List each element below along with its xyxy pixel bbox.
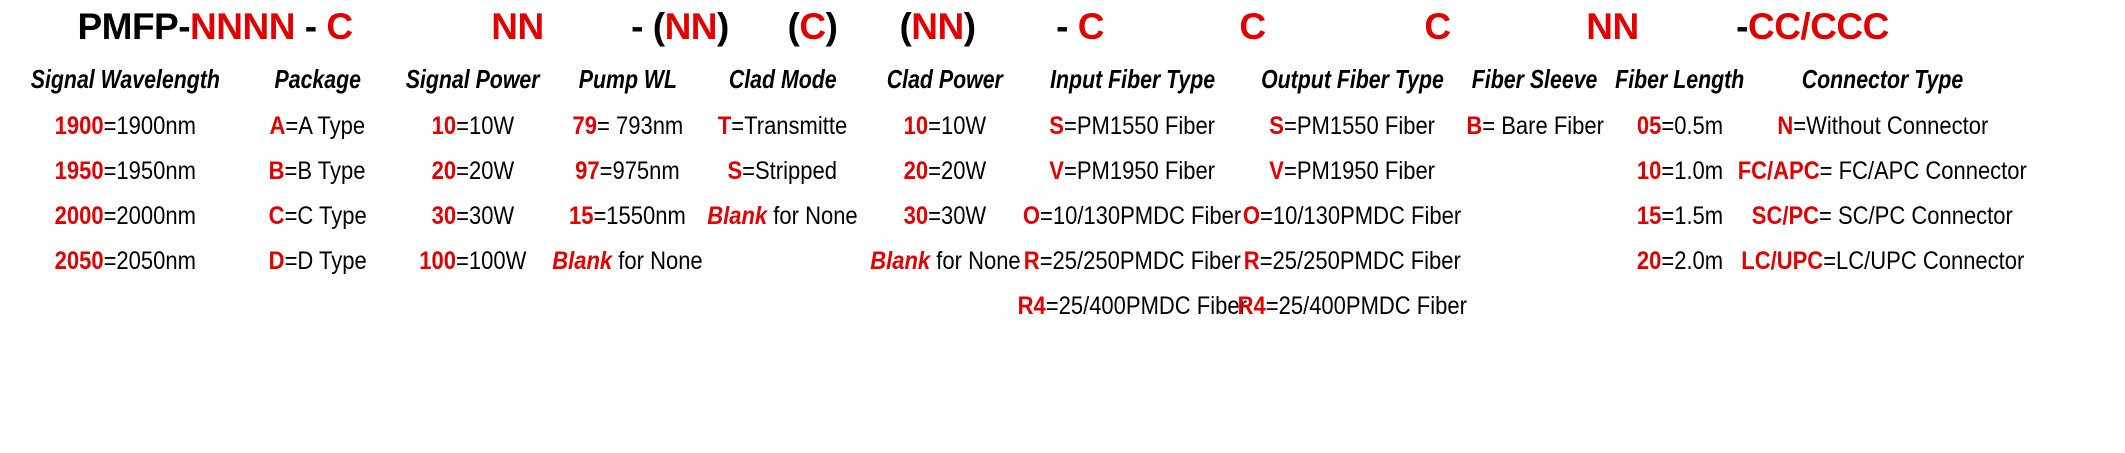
option-value: =Stripped: [742, 157, 837, 185]
option-code: 100: [419, 247, 456, 275]
option-code: S: [1050, 112, 1065, 140]
option-cell: Blank for None: [552, 239, 702, 284]
column-header: Signal Wavelength: [30, 54, 219, 104]
option-cell: R=25/250PMDC Fiber: [1244, 239, 1461, 284]
option-code: R4: [1018, 292, 1046, 320]
option-value: =1950nm: [103, 157, 195, 185]
option-cell: 15=1550nm: [569, 194, 686, 239]
column-header: Input Fiber Type: [1050, 54, 1215, 104]
option-cell: 100=100W: [419, 239, 526, 284]
option-code: 10: [1637, 157, 1661, 185]
option-cell: 2000=2000nm: [54, 194, 195, 239]
part-number-code-line: PMFP-NNNN - CNN - (NN)(C)(NN) - CCCNN-CC…: [0, 0, 2125, 54]
option-cell: O=10/130PMDC Fiber: [1243, 194, 1461, 239]
option-cell: 30=30W: [904, 194, 987, 239]
option-code: R4: [1238, 292, 1266, 320]
code-segment-2: - (NN): [605, 0, 755, 54]
option-value: =A Type: [286, 112, 366, 140]
code-token: -: [295, 6, 326, 47]
code-token: -: [1056, 6, 1078, 47]
option-value: =0.5m: [1661, 112, 1723, 140]
option-cell-empty: [1532, 149, 1538, 194]
option-cell-empty: [314, 284, 320, 329]
option-cell: T=Transmitte: [718, 104, 847, 149]
option-column: Input Fiber TypeS=PM1550 FiberV=PM1950 F…: [1020, 54, 1245, 329]
option-column: Signal Power10=10W20=20W30=30W100=100W: [385, 54, 560, 329]
option-value: =10/130PMDC Fiber: [1260, 202, 1461, 230]
option-value: =PM1550 Fiber: [1284, 112, 1435, 140]
option-code: 1900: [54, 112, 103, 140]
option-cell-empty: [624, 284, 630, 329]
option-cell: O=10/130PMDC Fiber: [1023, 194, 1241, 239]
option-cell-empty: [1532, 194, 1538, 239]
option-code: 79: [572, 112, 596, 140]
option-value: =1550nm: [594, 202, 686, 230]
column-header: Signal Power: [406, 54, 540, 104]
option-code: 15: [1637, 202, 1661, 230]
code-segment-8: NN: [1525, 0, 1700, 54]
option-value: =30W: [456, 202, 514, 230]
option-code: O: [1243, 202, 1260, 230]
option-value: for None: [930, 247, 1021, 275]
option-cell-empty: [1532, 284, 1538, 329]
option-code: 20: [431, 157, 455, 185]
option-value: =20W: [928, 157, 986, 185]
option-value: =B Type: [285, 157, 366, 185]
option-column: Output Fiber TypeS=PM1550 FiberV=PM1950 …: [1245, 54, 1460, 329]
option-value: =975nm: [600, 157, 680, 185]
option-value: =PM1950 Fiber: [1064, 157, 1215, 185]
option-code: 30: [431, 202, 455, 230]
option-column: Fiber SleeveB= Bare Fiber: [1460, 54, 1610, 329]
option-code: 30: [904, 202, 928, 230]
option-code: O: [1023, 202, 1040, 230]
column-header: Pump WL: [578, 54, 676, 104]
option-cell: V=PM1950 Fiber: [1270, 149, 1436, 194]
code-token: CC/CCC: [1748, 6, 1889, 47]
option-value: =10/130PMDC Fiber: [1040, 202, 1241, 230]
code-token: PMFP-: [77, 6, 190, 47]
options-grid: Signal Wavelength1900=1900nm1950=1950nm2…: [0, 54, 2125, 329]
option-cell-empty: [1879, 284, 1885, 329]
option-cell: 2050=2050nm: [54, 239, 195, 284]
option-code: 2000: [54, 202, 103, 230]
code-segment-0: PMFP-NNNN - C: [0, 0, 430, 54]
option-cell: 10=10W: [431, 104, 514, 149]
option-code: R: [1024, 247, 1040, 275]
option-column: Clad ModeT=TransmitteS=StrippedBlank for…: [695, 54, 870, 329]
option-value: =2000nm: [103, 202, 195, 230]
option-value: =10W: [928, 112, 986, 140]
option-cell: FC/APC= FC/APC Connector: [1738, 149, 2027, 194]
option-column: Pump WL79= 793nm97=975nm15=1550nmBlank f…: [560, 54, 695, 329]
option-value: =D Type: [284, 247, 366, 275]
option-cell: N=Without Connector: [1777, 104, 1988, 149]
option-value: =2050nm: [103, 247, 195, 275]
code-token: NN: [665, 6, 717, 47]
option-cell: 30=30W: [431, 194, 514, 239]
option-value: =C Type: [284, 202, 366, 230]
option-cell: 20=2.0m: [1637, 239, 1723, 284]
option-code: Blank: [707, 202, 767, 230]
code-segment-6: C: [1155, 0, 1350, 54]
option-cell: R4=25/400PMDC Fiber: [1018, 284, 1247, 329]
code-token: C: [799, 6, 825, 47]
option-cell-empty: [1532, 239, 1538, 284]
option-code: A: [270, 112, 286, 140]
option-cell: B= Bare Fiber: [1466, 104, 1604, 149]
option-cell: SC/PC= SC/PC Connector: [1752, 194, 2013, 239]
code-token: ): [826, 6, 838, 47]
code-token: C: [326, 6, 352, 47]
option-value: = Bare Fiber: [1482, 112, 1604, 140]
option-value: =1.0m: [1661, 157, 1723, 185]
option-cell: Blank for None: [870, 239, 1020, 284]
option-value: =PM1550 Fiber: [1064, 112, 1215, 140]
option-code: 10: [904, 112, 928, 140]
code-segment-3: (C): [755, 0, 870, 54]
column-header: Output Fiber Type: [1261, 54, 1444, 104]
option-value: =100W: [456, 247, 526, 275]
option-column: Fiber Length05=0.5m10=1.0m15=1.5m20=2.0m: [1610, 54, 1750, 329]
option-column: PackageA=A TypeB=B TypeC=C TypeD=D Type: [250, 54, 385, 329]
option-cell: 15=1.5m: [1637, 194, 1723, 239]
option-code: Blank: [870, 247, 930, 275]
code-token: NN: [491, 6, 543, 47]
option-code: Blank: [552, 247, 612, 275]
code-segment-1: NN: [430, 0, 605, 54]
option-code: B: [269, 157, 285, 185]
option-cell: C=C Type: [268, 194, 366, 239]
code-token: C: [1078, 6, 1104, 47]
option-value: =Without Connector: [1793, 112, 1988, 140]
option-cell: R4=25/400PMDC Fiber: [1238, 284, 1467, 329]
option-code: 15: [569, 202, 593, 230]
code-segment-4: (NN): [870, 0, 1005, 54]
option-column: Signal Wavelength1900=1900nm1950=1950nm2…: [0, 54, 250, 329]
code-token: ): [717, 6, 729, 47]
option-cell: LC/UPC=LC/UPC Connector: [1741, 239, 2024, 284]
option-code: N: [1777, 112, 1793, 140]
option-code: 20: [904, 157, 928, 185]
option-code: R: [1244, 247, 1260, 275]
option-code: B: [1466, 112, 1482, 140]
option-cell: 97=975nm: [575, 149, 680, 194]
option-value: = FC/APC Connector: [1820, 157, 2027, 185]
code-segment-7: C: [1350, 0, 1525, 54]
column-header: Fiber Sleeve: [1472, 54, 1598, 104]
option-code: D: [268, 247, 284, 275]
option-cell: 05=0.5m: [1637, 104, 1723, 149]
code-token: C: [1239, 6, 1265, 47]
option-cell: 1950=1950nm: [54, 149, 195, 194]
column-header: Fiber Length: [1615, 54, 1744, 104]
option-code: V: [1270, 157, 1285, 185]
option-cell: D=D Type: [268, 239, 366, 284]
option-code: C: [268, 202, 284, 230]
option-value: =25/400PMDC Fiber: [1266, 292, 1467, 320]
option-cell: 1900=1900nm: [54, 104, 195, 149]
option-code: V: [1050, 157, 1065, 185]
option-value: =25/250PMDC Fiber: [1260, 247, 1461, 275]
option-value: =PM1950 Fiber: [1284, 157, 1435, 185]
column-header: Connector Type: [1802, 54, 1964, 104]
option-cell: 10=10W: [904, 104, 987, 149]
code-token: NN: [911, 6, 963, 47]
option-value: =1.5m: [1661, 202, 1723, 230]
code-token: -: [1736, 6, 1748, 47]
code-segment-9: -CC/CCC: [1700, 0, 1925, 54]
part-number-decoder: PMFP-NNNN - CNN - (NN)(C)(NN) - CCCNN-CC…: [0, 0, 2125, 453]
option-value: =25/250PMDC Fiber: [1040, 247, 1241, 275]
code-token: (: [788, 6, 800, 47]
column-header: Package: [274, 54, 361, 104]
option-cell: S=PM1550 Fiber: [1270, 104, 1436, 149]
option-code: 20: [1637, 247, 1661, 275]
option-code: S: [1270, 112, 1285, 140]
column-header: Clad Power: [887, 54, 1003, 104]
option-value: =LC/UPC Connector: [1823, 247, 2024, 275]
option-cell: 20=20W: [904, 149, 987, 194]
option-cell-empty: [779, 239, 785, 284]
option-cell-empty: [122, 284, 128, 329]
option-cell: A=A Type: [270, 104, 366, 149]
option-cell: B=B Type: [269, 149, 366, 194]
code-segment-5: - C: [1005, 0, 1155, 54]
option-code: 97: [575, 157, 599, 185]
option-value: = SC/PC Connector: [1819, 202, 2013, 230]
option-code: LC/UPC: [1741, 247, 1823, 275]
option-value: =10W: [456, 112, 514, 140]
option-value: =25/400PMDC Fiber: [1046, 292, 1247, 320]
code-token: ): [964, 6, 976, 47]
option-value: for None: [612, 247, 703, 275]
option-value: = 793nm: [597, 112, 683, 140]
option-cell: S=PM1550 Fiber: [1050, 104, 1216, 149]
option-code: T: [718, 112, 731, 140]
option-code: 05: [1637, 112, 1661, 140]
option-code: 2050: [54, 247, 103, 275]
option-cell-empty: [469, 284, 475, 329]
option-cell: 79= 793nm: [572, 104, 683, 149]
option-value: =1900nm: [103, 112, 195, 140]
option-cell-empty: [942, 284, 948, 329]
option-cell: S=Stripped: [728, 149, 837, 194]
option-code: S: [728, 157, 743, 185]
code-token: NN: [1586, 6, 1638, 47]
option-value: =2.0m: [1661, 247, 1723, 275]
option-cell: Blank for None: [707, 194, 857, 239]
code-token: (: [899, 6, 911, 47]
option-value: =30W: [928, 202, 986, 230]
option-cell: 20=20W: [431, 149, 514, 194]
option-code: SC/PC: [1752, 202, 1819, 230]
option-value: for None: [767, 202, 858, 230]
option-cell: 10=1.0m: [1637, 149, 1723, 194]
option-value: =20W: [456, 157, 514, 185]
code-token: C: [1424, 6, 1450, 47]
option-column: Connector TypeN=Without ConnectorFC/APC=…: [1750, 54, 2015, 329]
option-column: Clad Power10=10W20=20W30=30WBlank for No…: [870, 54, 1020, 329]
option-cell-empty: [1677, 284, 1683, 329]
column-header: Clad Mode: [729, 54, 837, 104]
code-token: NNNN: [190, 6, 295, 47]
option-cell: R=25/250PMDC Fiber: [1024, 239, 1241, 284]
option-code: FC/APC: [1738, 157, 1820, 185]
option-value: =Transmitte: [731, 112, 847, 140]
code-token: - (: [631, 6, 664, 47]
option-cell: V=PM1950 Fiber: [1050, 149, 1216, 194]
option-code: 1950: [54, 157, 103, 185]
option-code: 10: [431, 112, 455, 140]
option-cell-empty: [779, 284, 785, 329]
